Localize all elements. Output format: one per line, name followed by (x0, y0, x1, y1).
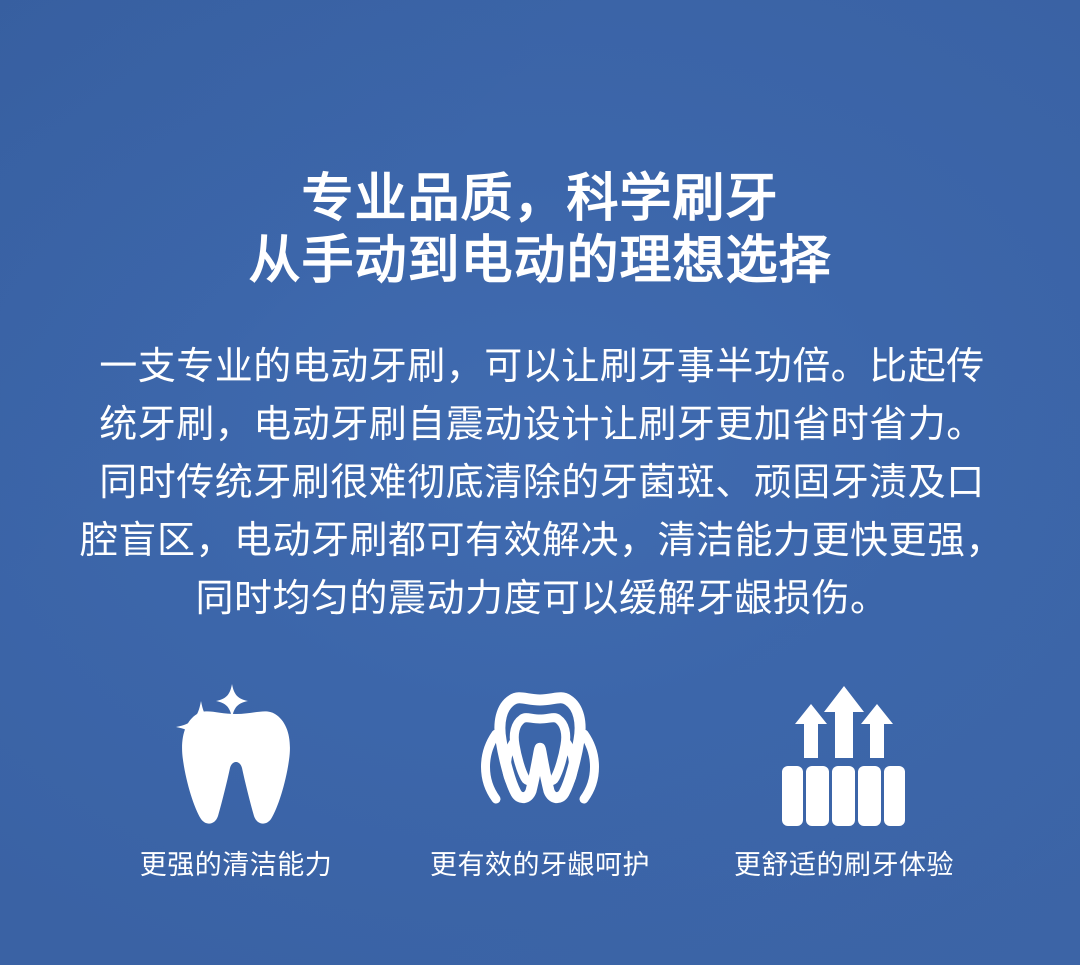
teeth-bars-up-arrows-icon (769, 684, 919, 826)
headline-line-1: 专业品质，科学刷牙 (0, 168, 1080, 230)
feature-item-gum-care: 更有效的牙龈呵护 (400, 684, 680, 882)
body-line-1: 一支专业的电动牙刷，可以让刷牙事半功倍。比起传 (76, 338, 1008, 396)
body-paragraph: 一支专业的电动牙刷，可以让刷牙事半功倍。比起传 统牙刷，电动牙刷自震动设计让刷牙… (76, 338, 1008, 628)
promo-banner: 专业品质，科学刷牙 从手动到电动的理想选择 一支专业的电动牙刷，可以让刷牙事半功… (0, 0, 1080, 965)
headline-line-2: 从手动到电动的理想选择 (0, 230, 1080, 292)
feature-label-cleaning: 更强的清洁能力 (140, 848, 333, 882)
feature-item-cleaning: 更强的清洁能力 (96, 684, 376, 882)
vibrating-tooth-icon (465, 684, 615, 826)
feature-label-gum-care: 更有效的牙龈呵护 (430, 848, 650, 882)
feature-label-comfort: 更舒适的刷牙体验 (734, 848, 954, 882)
body-line-4: 腔盲区，电动牙刷都可有效解决，清洁能力更快更强， (76, 512, 1008, 570)
body-line-2: 统牙刷，电动牙刷自震动设计让刷牙更加省时省力。 (76, 396, 1008, 454)
headline: 专业品质，科学刷牙 从手动到电动的理想选择 (0, 168, 1080, 292)
feature-row: 更强的清洁能力 (96, 684, 984, 882)
banner-content: 专业品质，科学刷牙 从手动到电动的理想选择 一支专业的电动牙刷，可以让刷牙事半功… (0, 0, 1080, 965)
body-line-5: 同时均匀的震动力度可以缓解牙龈损伤。 (76, 570, 1008, 628)
sparkling-tooth-icon (161, 684, 311, 826)
feature-item-comfort: 更舒适的刷牙体验 (704, 684, 984, 882)
body-line-3: 同时传统牙刷很难彻底清除的牙菌斑、顽固牙渍及口 (76, 454, 1008, 512)
